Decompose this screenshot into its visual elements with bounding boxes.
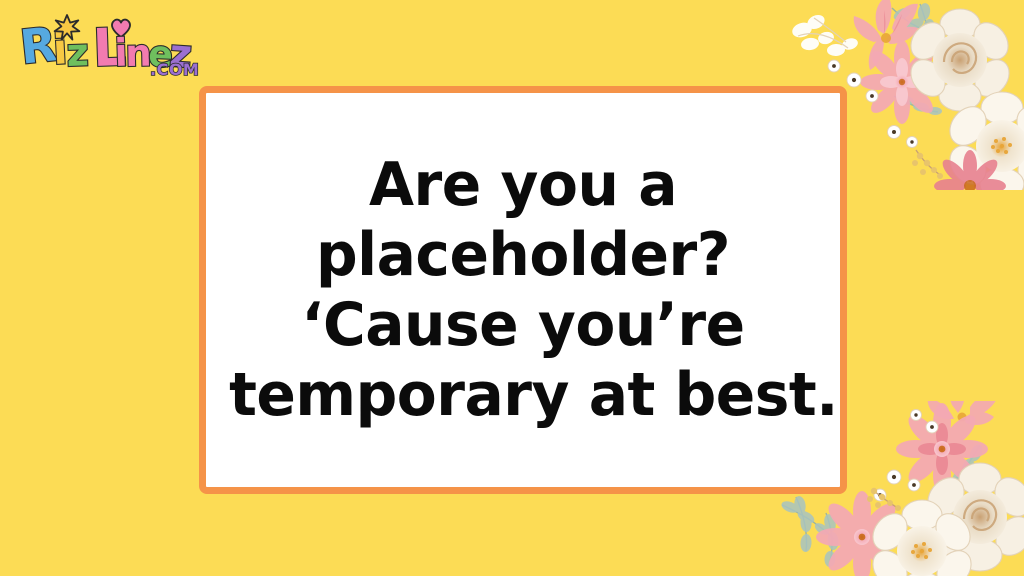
pink-dahlia: [934, 150, 1006, 190]
pink-dahlia: [816, 491, 908, 576]
quote-line-4: temporary at best.: [229, 360, 817, 430]
quote-card: Are you a placeholder? ‘Cause you’re tem…: [199, 86, 847, 494]
pink-dahlia: [860, 40, 944, 124]
cream-rose: [942, 92, 1024, 190]
svg-text:.COM: .COM: [150, 60, 199, 79]
berry-sprig: [912, 150, 943, 179]
eucalyptus-sprig: [892, 4, 964, 112]
logo-domain-suffix: .COM: [150, 60, 199, 79]
berry-sprig: [867, 488, 901, 511]
pink-dahlia: [896, 403, 988, 495]
rizlinez-logo[interactable]: R i z L: [8, 10, 208, 82]
cream-rose: [866, 500, 978, 576]
pink-lily: [928, 401, 998, 425]
eucalyptus-leaves: [892, 2, 970, 115]
quote-line-2: placeholder?: [229, 220, 817, 290]
white-blossom-cluster: [790, 12, 859, 56]
quote-text-block: Are you a placeholder? ‘Cause you’re tem…: [216, 150, 831, 431]
white-blossom: [874, 410, 938, 502]
svg-text:z: z: [66, 30, 90, 75]
quote-image-canvas: R i z L: [0, 0, 1024, 576]
quote-line-3: ‘Cause you’re: [229, 290, 817, 360]
cream-rose: [920, 463, 1024, 571]
cream-rose: [904, 9, 1016, 111]
logo-letter-z-1: z: [66, 30, 90, 75]
pink-lily: [854, 0, 918, 70]
quote-line-1: Are you a: [229, 150, 817, 220]
